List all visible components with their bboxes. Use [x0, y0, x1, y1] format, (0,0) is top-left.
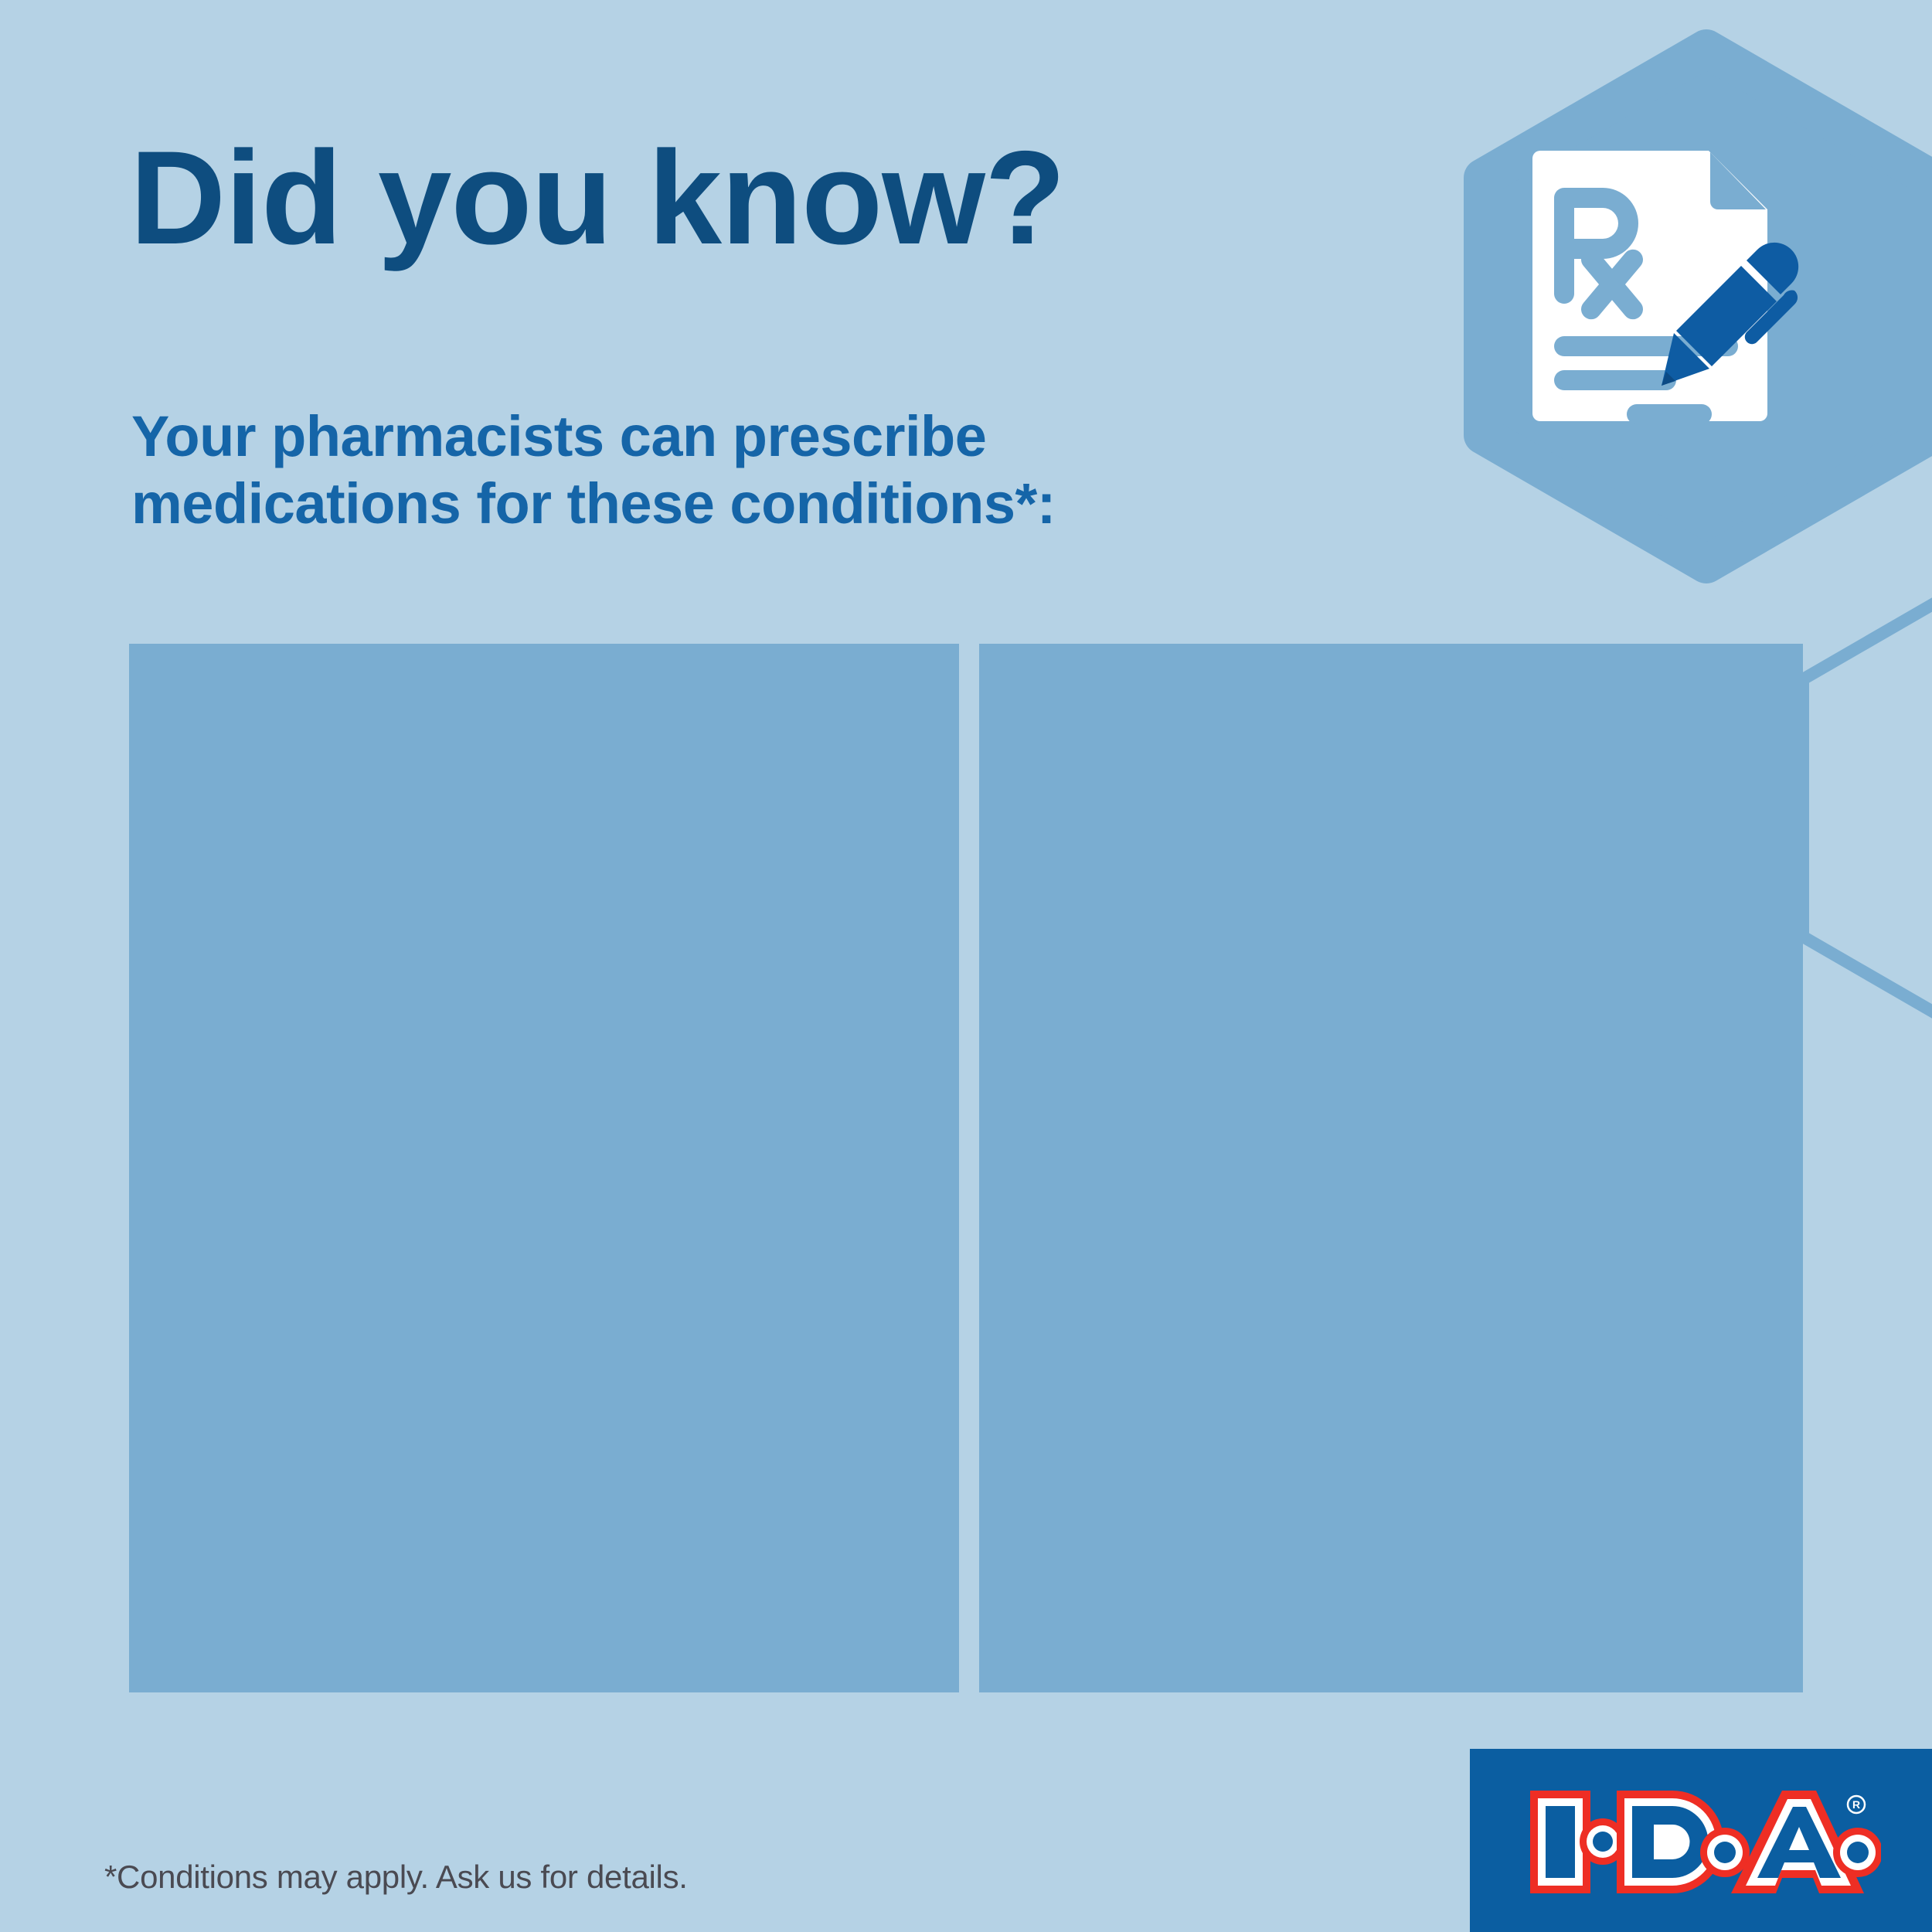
page-title: Did you know? [130, 131, 1065, 264]
rx-prescription-pen-icon [1511, 143, 1820, 452]
rx-icon-svg [1511, 143, 1820, 452]
registered-trademark-icon: R [1848, 1796, 1865, 1813]
poster-canvas: Did you know? Your pharmacists can presc… [0, 0, 1932, 1932]
conditions-panel-right [979, 644, 1803, 1692]
conditions-panels [129, 644, 1803, 1692]
page-subtitle-line-1: Your pharmacists can prescribe [131, 403, 1056, 471]
conditions-panel-left [129, 644, 959, 1692]
hexagon-outline [1803, 550, 1932, 1066]
footnote-disclaimer: *Conditions may apply. Ask us for detail… [104, 1859, 688, 1896]
svg-text:R: R [1852, 1798, 1860, 1811]
ida-logo-glyphs [1530, 1791, 1881, 1893]
panel-divider-gap [959, 644, 979, 1692]
document-line-2 [1554, 370, 1676, 390]
document-signature-line [1627, 404, 1712, 424]
ida-logo: R [1526, 1786, 1881, 1898]
page-subtitle-line-2: medications for these conditions*: [131, 471, 1056, 538]
ida-logo-box: R [1470, 1749, 1932, 1932]
page-subtitle: Your pharmacists can prescribe medicatio… [131, 403, 1056, 537]
